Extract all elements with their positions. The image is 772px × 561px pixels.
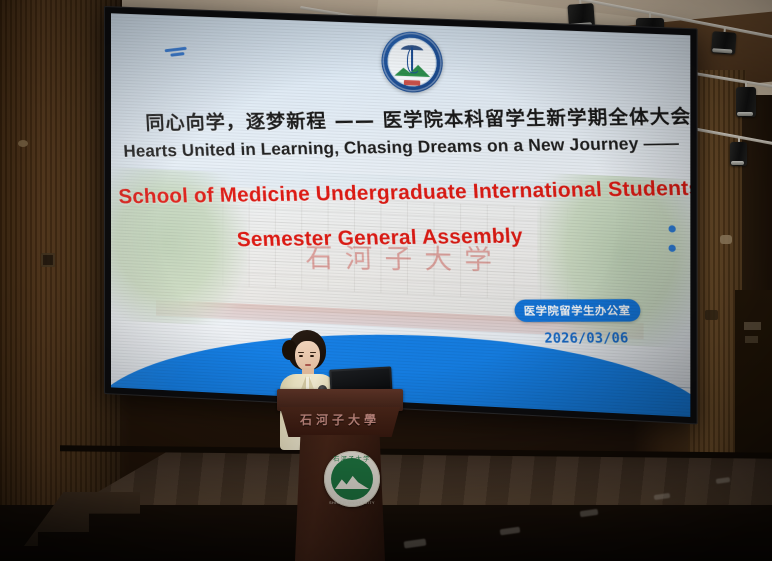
wall-socket-left[interactable] [41,253,55,267]
door-sign-secondary [745,336,758,343]
slide-title-chinese: 同心向学，逐梦新程 —— 医学院本科留学生新学期全体大会 [145,102,667,136]
slide-subtitle-red-line2: Semester General Assembly [236,222,690,252]
stage-spotlight-icon [730,136,747,168]
stage-spotlight-icon [736,81,756,119]
lectern-name-text: 石河子大學 [287,411,393,428]
auditorium-photo: 石河子大学 同心 [0,0,772,561]
slide-date: 2026/03/06 [544,330,629,347]
slide-title-english: Hearts United in Learning, Chasing Dream… [123,133,690,162]
seal-bottom-text: SHIHEZI UNIVERSITY [324,501,380,505]
mouth [305,364,311,366]
university-seal-icon: 石河子大学 SHIHEZI UNIVERSITY [324,451,380,507]
wall-fitting-right [720,235,732,244]
slide-office-badge: 医学院留学生办公室 [514,299,640,322]
lectern: 石河子大學 石河子大学 SHIHEZI UNIVERSITY [277,389,403,561]
wall-fitting-upper-left [18,140,28,147]
led-presentation-screen[interactable]: 石河子大学 同心 [104,6,698,424]
slide-subtitle-red-line1: School of Medicine Undergraduate Interna… [118,177,691,210]
slide-titles: 同心向学，逐梦新程 —— 医学院本科留学生新学期全体大会 Hearts Unit… [111,13,690,417]
door-sign [744,322,761,330]
seal-top-text: 石河子大学 [324,454,380,463]
slide-content: 石河子大学 同心 [111,13,690,417]
stage-spotlight-icon [711,25,737,57]
wall-socket-right[interactable] [705,310,718,320]
